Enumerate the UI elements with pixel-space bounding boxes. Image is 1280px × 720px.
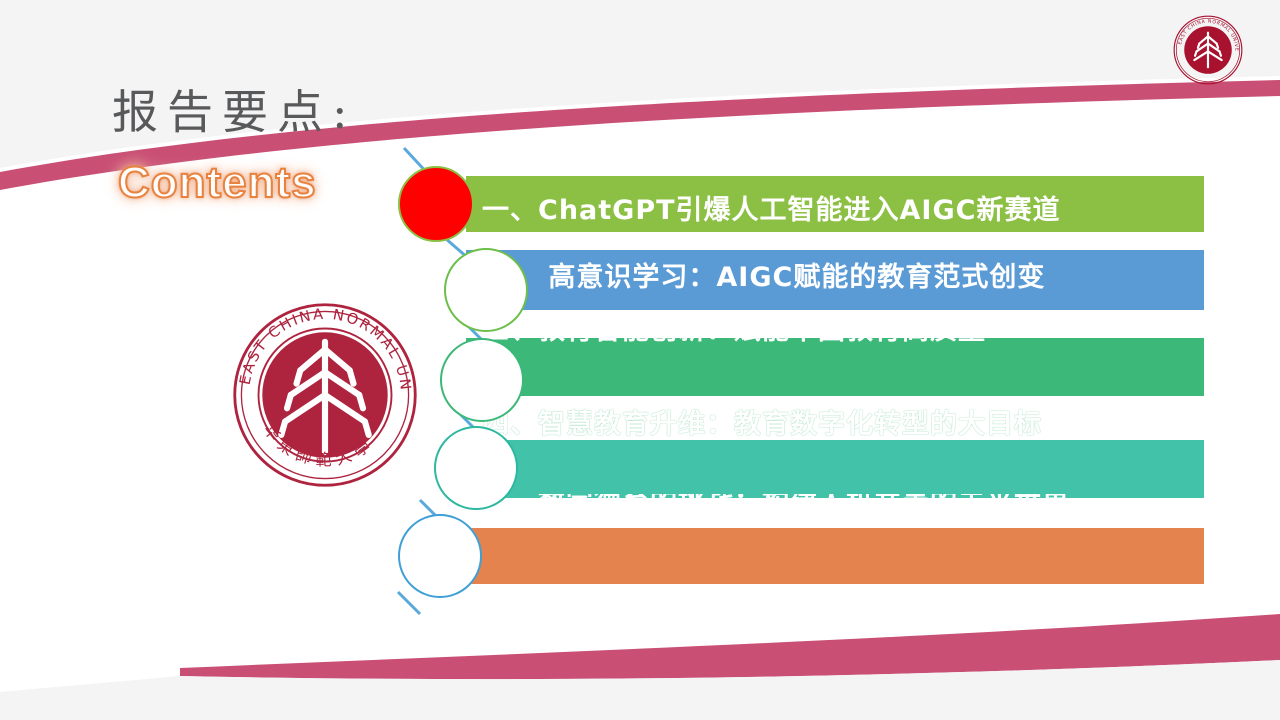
contents-item-5-label: 五、数字德育的挑战：构建人机共善的未来世界 — [482, 494, 1070, 516]
contents-marker-2[interactable] — [444, 248, 528, 332]
contents-item-3-clip: 三、教育智能创新：赋能中国教育高质量 — [466, 318, 1204, 342]
contents-item-6[interactable] — [466, 528, 1204, 584]
contents-marker-5[interactable] — [398, 514, 482, 598]
contents-marker-1[interactable] — [398, 166, 474, 242]
contents-item-5-clip: 五、数字德育的挑战：构建人机共善的未来世界 — [466, 494, 1204, 516]
contents-item-5[interactable]: 五、数字德育的挑战：构建人机共善的未来世界 — [466, 440, 1204, 498]
contents-item-1-label: 一、ChatGPT引爆人工智能进入AIGC新赛道 — [482, 188, 1060, 227]
contents-item-3-label: 三、教育智能创新：赋能中国教育高质量 — [482, 318, 986, 342]
contents-item-2[interactable]: 二、 高意识学习：AIGC赋能的教育范式创变 — [466, 250, 1204, 310]
presentation-slide: EAST CHINA NORMAL UNIVERSITY EAST CHINA … — [0, 0, 1280, 720]
contents-marker-4[interactable] — [434, 426, 518, 510]
contents-item-4-label: 四、智慧教育升维：教育数字化转型的大目标 — [482, 402, 1042, 441]
contents-item-2-label: 二、 高意识学习：AIGC赋能的教育范式创变 — [482, 255, 1045, 294]
contents-item-1[interactable]: 一、ChatGPT引爆人工智能进入AIGC新赛道 — [466, 176, 1204, 232]
contents-item-3[interactable]: 三、教育智能创新：赋能中国教育高质量 — [466, 338, 1204, 396]
contents-marker-3[interactable] — [440, 338, 524, 422]
